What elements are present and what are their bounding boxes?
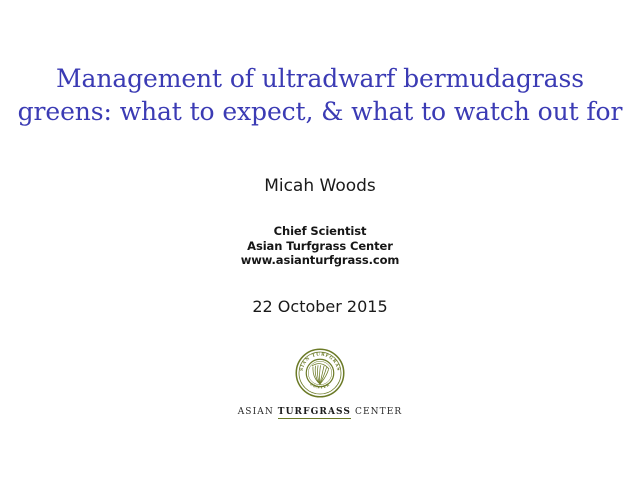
author-role: Chief Scientist	[0, 224, 640, 239]
author-name: Micah Woods	[0, 175, 640, 197]
affiliation-block: Chief Scientist Asian Turfgrass Center w…	[0, 224, 640, 268]
presentation-date: 22 October 2015	[0, 296, 640, 317]
title-line-2: greens: what to expect, & what to watch …	[0, 95, 640, 128]
logo-block: ASIAN TURFGRASS CENTER ASIAN TURF	[0, 348, 640, 418]
page-title: Management of ultradwarf bermudagrass gr…	[0, 62, 640, 128]
asian-turfgrass-center-seal-icon: ASIAN TURFGRASS CENTER	[295, 348, 345, 398]
logo-wordmark-suffix: CENTER	[351, 407, 402, 417]
title-line-1: Management of ultradwarf bermudagrass	[0, 62, 640, 95]
logo-wordmark-prefix: ASIAN	[238, 407, 278, 417]
author-website: www.asianturfgrass.com	[0, 253, 640, 268]
logo-wordmark: ASIAN TURFGRASS CENTER	[0, 406, 640, 418]
title-slide: Management of ultradwarf bermudagrass gr…	[0, 0, 640, 480]
author-organization: Asian Turfgrass Center	[0, 239, 640, 254]
logo-wordmark-accent: TURFGRASS	[278, 407, 351, 419]
